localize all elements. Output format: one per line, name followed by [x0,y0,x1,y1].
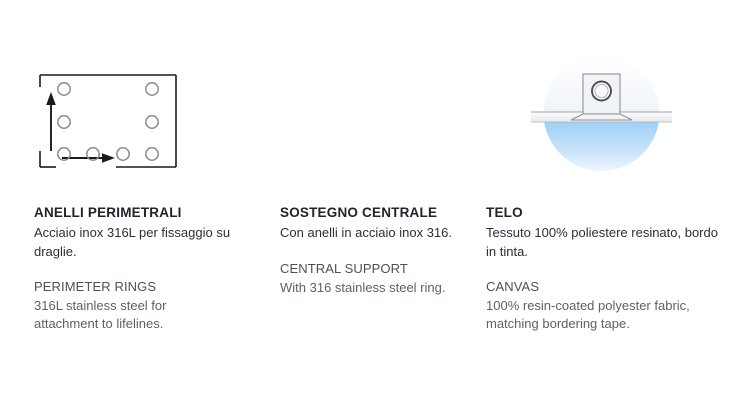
feature-title-en: CANVAS [486,278,731,297]
feature-body-en: 100% resin-coated polyester fabric, matc… [486,297,731,334]
perimeter-rings-diagram [38,73,178,169]
feature-body-it: Acciaio inox 316L per fissaggio su dragl… [34,224,234,261]
feature-title-en: PERIMETER RINGS [34,278,234,297]
figure-area-canvas: MEHLER TEXNOLOGIES POLYESTER POLYESTER [478,0,742,200]
text-block-central-support: SOSTEGNO CENTRALE Con anelli in acciaio … [280,203,490,297]
feature-column-perimeter-rings: ANELLI PERIMETRALI Acciaio inox 316L per… [0,0,250,410]
feature-columns: ANELLI PERIMETRALI Acciaio inox 316L per… [0,0,742,410]
figure-area-central-support [250,0,478,200]
feature-body-it: Tessuto 100% poliestere resinato, bordo … [486,224,731,261]
feature-body-en: 316L stainless steel for attachment to l… [34,297,234,334]
product-features-panel: ANELLI PERIMETRALI Acciaio inox 316L per… [0,0,742,410]
feature-title-it: ANELLI PERIMETRALI [34,203,234,223]
feature-title-en: CENTRAL SUPPORT [280,260,490,279]
feature-column-canvas: MEHLER TEXNOLOGIES POLYESTER POLYESTER T… [478,0,742,410]
feature-title-it: TELO [486,203,731,223]
feature-title-it: SOSTEGNO CENTRALE [280,203,490,223]
feature-body-it: Con anelli in acciaio inox 316. [280,224,490,242]
text-block-perimeter-rings: ANELLI PERIMETRALI Acciaio inox 316L per… [34,203,234,334]
figure-area-perimeter-rings [0,0,250,200]
feature-column-central-support: SOSTEGNO CENTRALE Con anelli in acciaio … [250,0,478,410]
text-block-canvas: TELO Tessuto 100% poliestere resinato, b… [486,203,731,334]
feature-body-en: With 316 stainless steel ring. [280,279,490,297]
